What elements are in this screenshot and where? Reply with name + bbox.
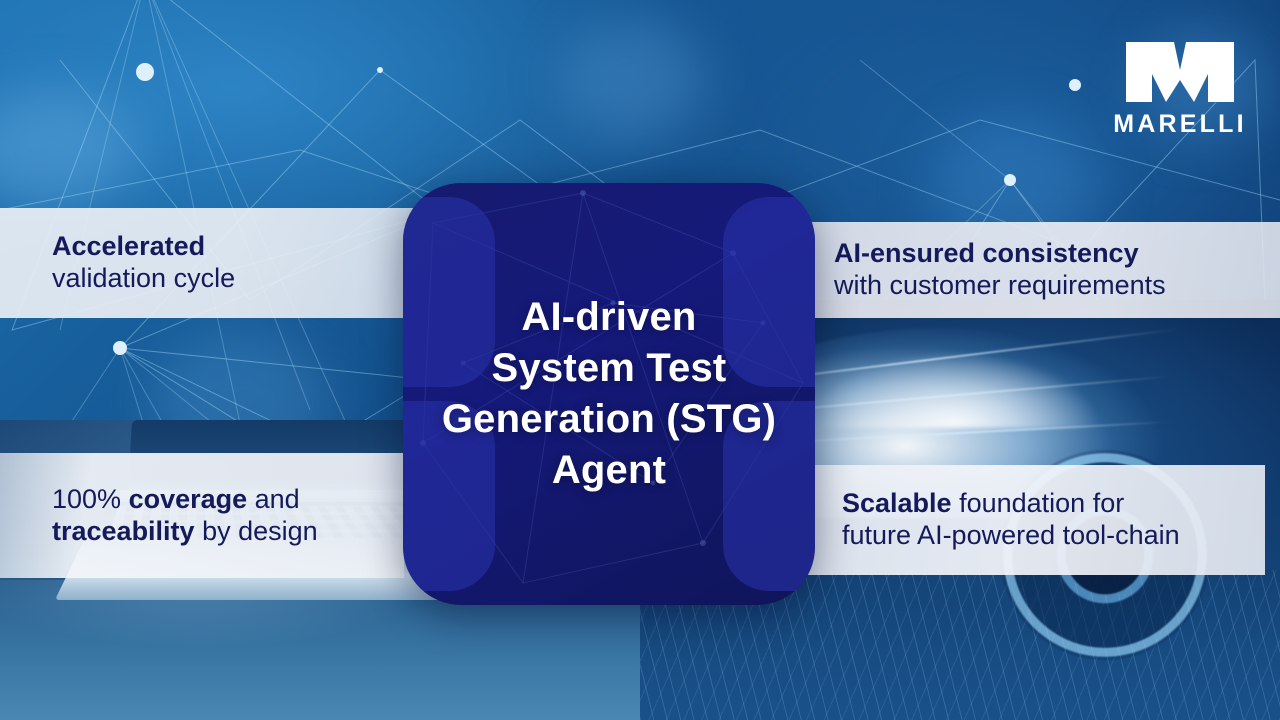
benefit-text-bottom-right: Scalable foundation for future AI-powere… <box>842 488 1180 551</box>
benefit-banner-bottom-right: Scalable foundation for future AI-powere… <box>800 465 1265 575</box>
main-title: AI-driven System Test Generation (STG) A… <box>428 292 790 497</box>
benefit-bold-text: Accelerated <box>52 231 205 261</box>
benefit-bold-text-2: traceability <box>52 516 195 546</box>
benefit-bold-text: Scalable <box>842 488 952 518</box>
benefit-prefix-text: 100% <box>52 484 129 514</box>
title-line-2: System Test <box>442 343 776 394</box>
marelli-m-logo-icon <box>1124 40 1236 104</box>
title-line-3: Generation (STG) <box>442 394 776 445</box>
benefit-suffix-text-2: by design <box>195 516 318 546</box>
main-title-card: AI-driven System Test Generation (STG) A… <box>403 183 815 605</box>
benefit-line-2: traceability by design <box>52 516 318 548</box>
title-line-4: Agent <box>442 445 776 496</box>
benefit-line-1: 100% coverage and <box>52 484 318 516</box>
benefit-line-1: Scalable foundation for <box>842 488 1180 520</box>
title-line-1: AI-driven <box>442 292 776 343</box>
benefit-line-2: validation cycle <box>52 263 235 295</box>
benefit-banner-bottom-left: 100% coverage and traceability by design <box>0 453 404 578</box>
brand-wordmark: MARELLI <box>1113 112 1247 137</box>
benefit-suffix-text: and <box>247 484 300 514</box>
benefit-bold-text: coverage <box>129 484 248 514</box>
benefit-banner-top-left: Accelerated validation cycle <box>0 208 432 318</box>
benefit-line-2: with customer requirements <box>834 270 1166 302</box>
presentation-slide: Accelerated validation cycle AI-ensured … <box>0 0 1280 720</box>
benefit-suffix-text: foundation for <box>952 488 1125 518</box>
benefit-bold-text: AI-ensured consistency <box>834 238 1139 268</box>
benefit-line-1: AI-ensured consistency <box>834 238 1166 270</box>
benefit-line-2: future AI-powered tool-chain <box>842 520 1180 552</box>
brand-logo: MARELLI <box>1116 40 1244 137</box>
benefit-banner-top-right: AI-ensured consistency with customer req… <box>810 222 1280 318</box>
benefit-line-1: Accelerated <box>52 231 235 263</box>
benefit-text-top-left: Accelerated validation cycle <box>52 231 235 294</box>
benefit-text-top-right: AI-ensured consistency with customer req… <box>834 238 1166 301</box>
benefit-text-bottom-left: 100% coverage and traceability by design <box>52 484 318 547</box>
